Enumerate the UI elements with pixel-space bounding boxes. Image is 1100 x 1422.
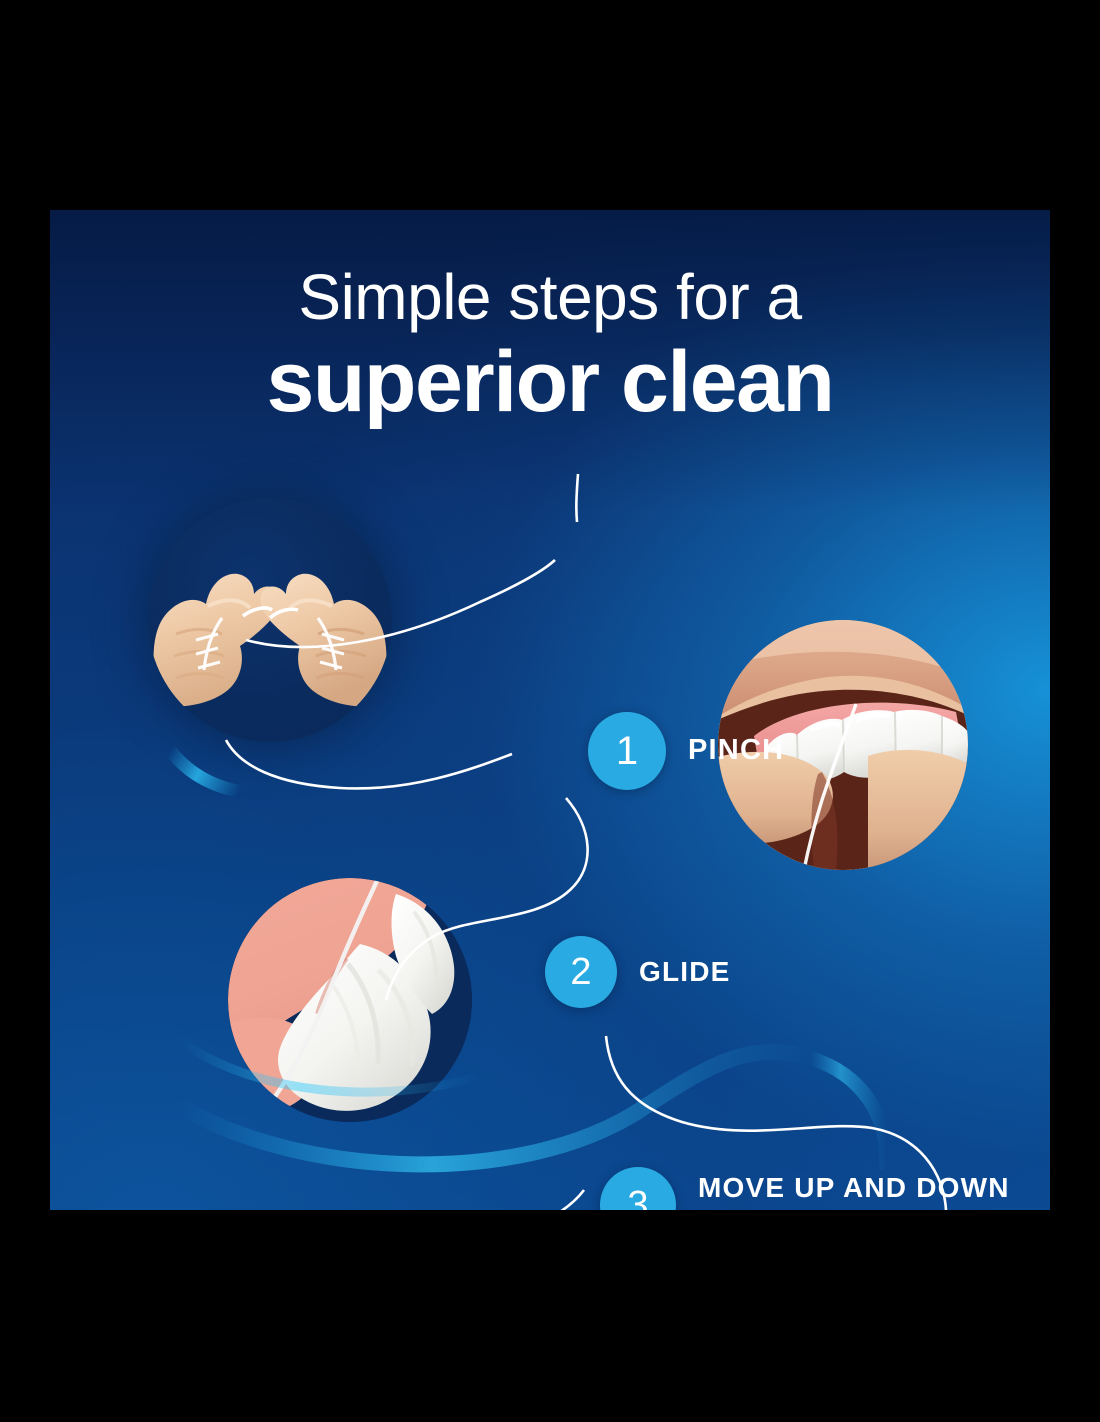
glow-swoosh-left [170, 750, 256, 794]
headline-line-1: Simple steps for a [50, 265, 1050, 329]
step-marker-3[interactable]: 3 MOVE UP AND DOWN ... AND REPEAT ! [600, 1167, 1010, 1210]
step-1-number-badge: 1 [588, 712, 666, 790]
screenshot-stage: Simple steps for a superior clean [0, 0, 1100, 1422]
step-3-number-badge: 3 [600, 1167, 676, 1210]
headline-line-2: superior clean [50, 339, 1050, 425]
thread-stub-top [576, 474, 578, 522]
step-3-image-floss-gumline-closeup [228, 878, 472, 1122]
thread-hands-to-step2 [226, 740, 512, 788]
step-marker-2[interactable]: 2 GLIDE [545, 936, 731, 1008]
thread-gums-to-step3 [380, 1190, 584, 1210]
step-2-number-badge: 2 [545, 936, 617, 1008]
step-2-label: GLIDE [639, 955, 731, 989]
poster-headline: Simple steps for a superior clean [50, 265, 1050, 425]
glow-swoosh-bottom-right [810, 1058, 886, 1170]
step-marker-1[interactable]: 1 PINCH [588, 712, 784, 790]
instructional-poster: Simple steps for a superior clean [50, 210, 1050, 1210]
step-1-label: PINCH [688, 733, 784, 768]
step-1-image-hands-pinching-floss [148, 498, 392, 742]
step-3-label: MOVE UP AND DOWN ... AND REPEAT ! [698, 1171, 1010, 1210]
gumline-illustration [228, 878, 472, 1122]
hands-illustration [148, 498, 392, 742]
